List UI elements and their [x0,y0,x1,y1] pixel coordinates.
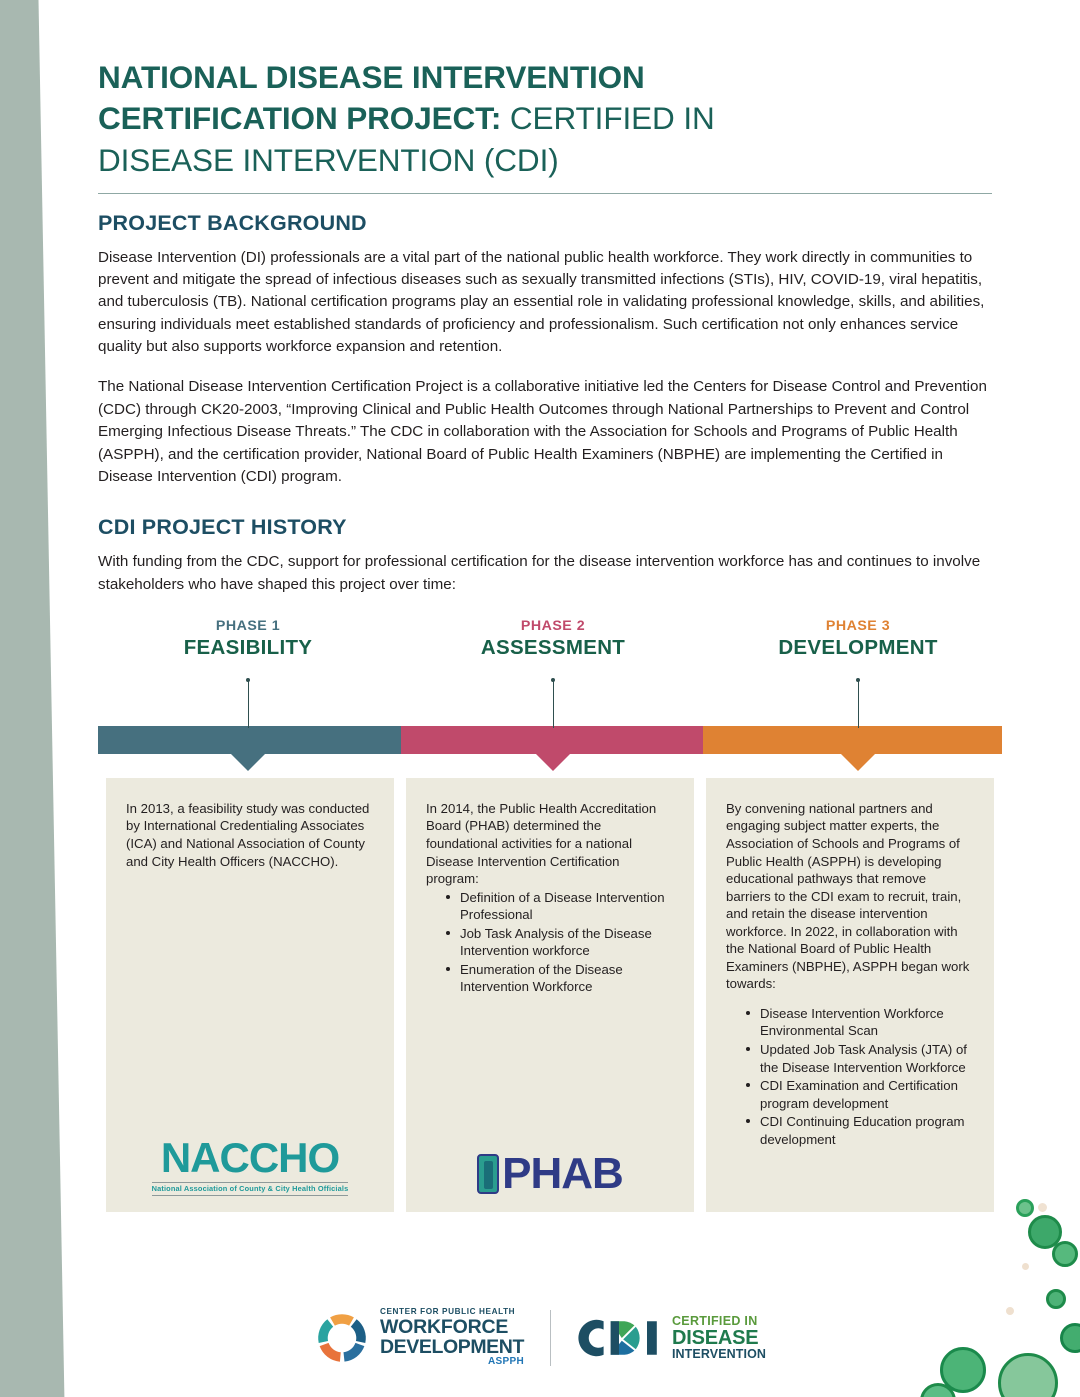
phab-wordmark: PHAB [502,1152,623,1196]
circular-arrows-icon [314,1310,370,1366]
title-divider [98,193,992,194]
cdi-monogram-icon [577,1316,661,1360]
phase-card-1: In 2013, a feasibility study was conduct… [106,778,394,1212]
phase-notch-2 [536,754,570,771]
background-paragraph-1: Disease Intervention (DI) professionals … [98,247,992,359]
phase-name-3: DEVELOPMENT [708,636,1008,660]
cdi-line-1: CERTIFIED IN [672,1315,766,1328]
left-decorative-band [0,0,80,1397]
cdi-line-3: INTERVENTION [672,1348,766,1361]
phase-label-group-3: PHASE 3DEVELOPMENT [708,618,1008,660]
phase-label-group-1: PHASE 1FEASIBILITY [98,618,398,660]
history-intro-paragraph: With funding from the CDC, support for p… [98,551,992,596]
phab-mark-icon [477,1154,499,1194]
timeline-segment-1 [98,726,401,754]
cell-shape [1016,1199,1034,1217]
naccho-wordmark: NACCHO [152,1137,349,1179]
cell-shape [1022,1263,1029,1270]
phase-card-3: By convening national partners and engag… [706,778,994,1212]
title-line-2-light: CERTIFIED IN [501,100,714,136]
cell-shape [1052,1241,1078,1267]
aspph-line-3: DEVELOPMENT [380,1337,524,1357]
list-item: CDI Continuing Education program develop… [748,1113,974,1148]
aspph-workforce-development-logo: CENTER FOR PUBLIC HEALTH WORKFORCE DEVEL… [314,1308,524,1367]
phab-logo: PHAB [477,1152,623,1196]
cdi-logo-text: CERTIFIED IN DISEASE INTERVENTION [672,1315,766,1361]
card-2-bullet-list: Definition of a Disease Intervention Pro… [426,889,674,996]
list-item: Job Task Analysis of the Disease Interve… [448,925,674,960]
band-stripe-light [0,0,70,1397]
phase-notch-1 [231,754,265,771]
section-heading-cdi-project-history: CDI PROJECT HISTORY [98,515,998,540]
timeline-segment-2 [401,726,703,754]
document-content: NATIONAL DISEASE INTERVENTION CERTIFICAT… [98,0,998,1212]
section-heading-project-background: PROJECT BACKGROUND [98,211,998,236]
aspph-logo-text: CENTER FOR PUBLIC HEALTH WORKFORCE DEVEL… [380,1308,524,1367]
title-line-1: NATIONAL DISEASE INTERVENTION [98,59,645,95]
cell-shape [1038,1203,1047,1212]
title-line-2-strong: CERTIFICATION PROJECT: [98,100,501,136]
card-3-spacer [726,993,974,1004]
list-item: Enumeration of the Disease Intervention … [448,961,674,996]
document-page: NATIONAL DISEASE INTERVENTION CERTIFICAT… [0,0,1080,1397]
phase-number-3: PHASE 3 [708,618,1008,634]
aspph-line-4: ASPPH [380,1357,524,1367]
naccho-tagline: National Association of County & City He… [152,1182,349,1196]
title-line-3: DISEASE INTERVENTION (CDI) [98,142,559,178]
cdi-line-2: DISEASE [672,1328,766,1348]
list-item: Disease Intervention Workforce Environme… [748,1005,974,1040]
timeline-segment-3 [703,726,1002,754]
page-title: NATIONAL DISEASE INTERVENTION CERTIFICAT… [98,57,998,181]
phase-number-1: PHASE 1 [98,618,398,634]
phase-card-2: In 2014, the Public Health Accreditation… [406,778,694,1212]
phase-connector-line-2 [553,680,554,728]
naccho-logo: NACCHONational Association of County & C… [152,1137,349,1196]
phase-cards: In 2013, a feasibility study was conduct… [98,778,1002,1212]
card-1-logo-slot: NACCHONational Association of County & C… [106,1137,394,1196]
phase-timeline: PHASE 1FEASIBILITYPHASE 2ASSESSMENTPHASE… [98,618,1002,773]
list-item: Definition of a Disease Intervention Pro… [448,889,674,924]
cdi-logo: CERTIFIED IN DISEASE INTERVENTION [577,1315,766,1361]
background-paragraph-2: The National Disease Intervention Certif… [98,376,992,488]
card-3-intro: By convening national partners and engag… [726,800,974,993]
phase-connector-line-3 [858,680,859,728]
phase-name-2: ASSESSMENT [403,636,703,660]
card-1-intro: In 2013, a feasibility study was conduct… [126,800,374,870]
list-item: Updated Job Task Analysis (JTA) of the D… [748,1041,974,1076]
phase-label-group-2: PHASE 2ASSESSMENT [403,618,703,660]
footer-logos: CENTER FOR PUBLIC HEALTH WORKFORCE DEVEL… [0,1298,1080,1378]
footer-divider [550,1310,551,1366]
card-2-intro: In 2014, the Public Health Accreditation… [426,800,674,888]
phase-notch-3 [841,754,875,771]
list-item: CDI Examination and Certification progra… [748,1077,974,1112]
phase-connector-line-1 [248,680,249,728]
card-2-logo-slot: PHAB [406,1152,694,1196]
phase-name-1: FEASIBILITY [98,636,398,660]
timeline-bar [98,726,1002,754]
phase-number-2: PHASE 2 [403,618,703,634]
aspph-line-2: WORKFORCE [380,1317,524,1337]
card-3-bullet-list-2: Disease Intervention Workforce Environme… [726,1005,974,1148]
